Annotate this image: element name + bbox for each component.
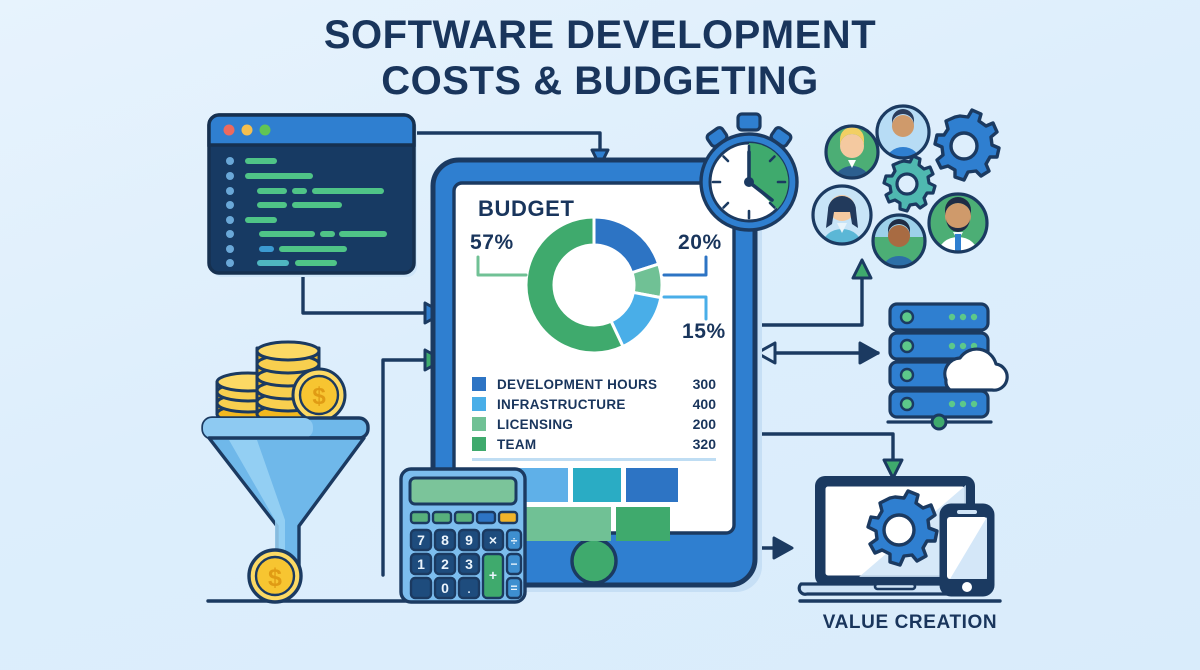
slice-development-hours <box>594 217 659 273</box>
tablet-home-button <box>572 539 616 583</box>
svg-text:0: 0 <box>441 580 449 596</box>
callout-topright-leader <box>662 255 722 281</box>
svg-text:1: 1 <box>417 556 425 572</box>
legend-label: INFRASTRUCTURE <box>497 397 693 412</box>
avatar <box>869 211 929 271</box>
legend-row: TEAM 320 <box>472 434 716 454</box>
legend-value: 300 <box>693 376 716 392</box>
legend-swatch <box>472 397 486 411</box>
value-creation-devices <box>797 472 1022 597</box>
legend-label: LICENSING <box>497 417 693 432</box>
value-creation-label: VALUE CREATION <box>800 612 1020 634</box>
code-editor-window[interactable] <box>207 113 419 278</box>
calculator-icon[interactable]: 7 8 9 × ÷ 1 2 3 + − 0 . = <box>398 466 528 606</box>
callout-bottomright-leader <box>662 295 722 325</box>
svg-text:8: 8 <box>441 532 449 548</box>
calculator-function-keys <box>411 512 517 523</box>
network-node <box>932 415 946 429</box>
legend-value: 200 <box>693 416 716 432</box>
calculator-display <box>410 478 516 504</box>
legend-label: TEAM <box>497 437 693 452</box>
budget-donut-chart <box>514 205 674 365</box>
stopwatch-icon <box>688 112 808 237</box>
gear-icon <box>884 156 935 211</box>
svg-text:7: 7 <box>417 532 425 548</box>
svg-text:=: = <box>510 581 517 595</box>
legend-row: INFRASTRUCTURE 400 <box>472 394 716 414</box>
avatar <box>822 122 882 182</box>
svg-text:3: 3 <box>465 556 473 572</box>
coin-upright: $ <box>293 369 345 421</box>
svg-text:2: 2 <box>441 556 449 572</box>
legend-value: 320 <box>693 436 716 452</box>
avatar <box>811 184 873 246</box>
bar-segment <box>616 507 670 541</box>
output-coin: $ <box>245 548 305 608</box>
svg-text:.: . <box>467 584 470 596</box>
screen-divider <box>472 458 716 461</box>
gear-icon <box>935 110 999 180</box>
budget-legend: DEVELOPMENT HOURS 300 INFRASTRUCTURE 400… <box>472 374 716 454</box>
window-maximize-dot <box>260 125 271 136</box>
infographic-canvas: SOFTWARE DEVELOPMENT COSTS & BUDGETING <box>0 0 1200 670</box>
legend-swatch <box>472 377 486 391</box>
team-cluster <box>812 106 1004 268</box>
callout-left-leader <box>474 255 534 281</box>
code-editor-svg <box>207 113 419 278</box>
legend-row: LICENSING 200 <box>472 414 716 434</box>
legend-value: 400 <box>693 396 716 412</box>
svg-text:−: − <box>510 557 517 571</box>
bar-segment <box>626 468 678 502</box>
legend-label: DEVELOPMENT HOURS <box>497 377 693 392</box>
svg-text:$: $ <box>312 383 326 410</box>
server-rack-icon <box>876 300 1006 428</box>
bar-segment <box>573 468 621 502</box>
svg-text:9: 9 <box>465 532 473 548</box>
avatar <box>927 192 989 254</box>
svg-text:×: × <box>489 532 497 548</box>
svg-text:÷: ÷ <box>511 534 518 548</box>
svg-text:+: + <box>489 567 497 583</box>
avatar <box>873 102 933 162</box>
window-minimize-dot <box>242 125 253 136</box>
legend-row: DEVELOPMENT HOURS 300 <box>472 374 716 394</box>
coin-dollar-symbol: $ <box>268 564 282 592</box>
legend-swatch <box>472 417 486 431</box>
callout-left-percent: 57% <box>470 231 514 255</box>
window-close-dot <box>224 125 235 136</box>
legend-swatch <box>472 437 486 451</box>
